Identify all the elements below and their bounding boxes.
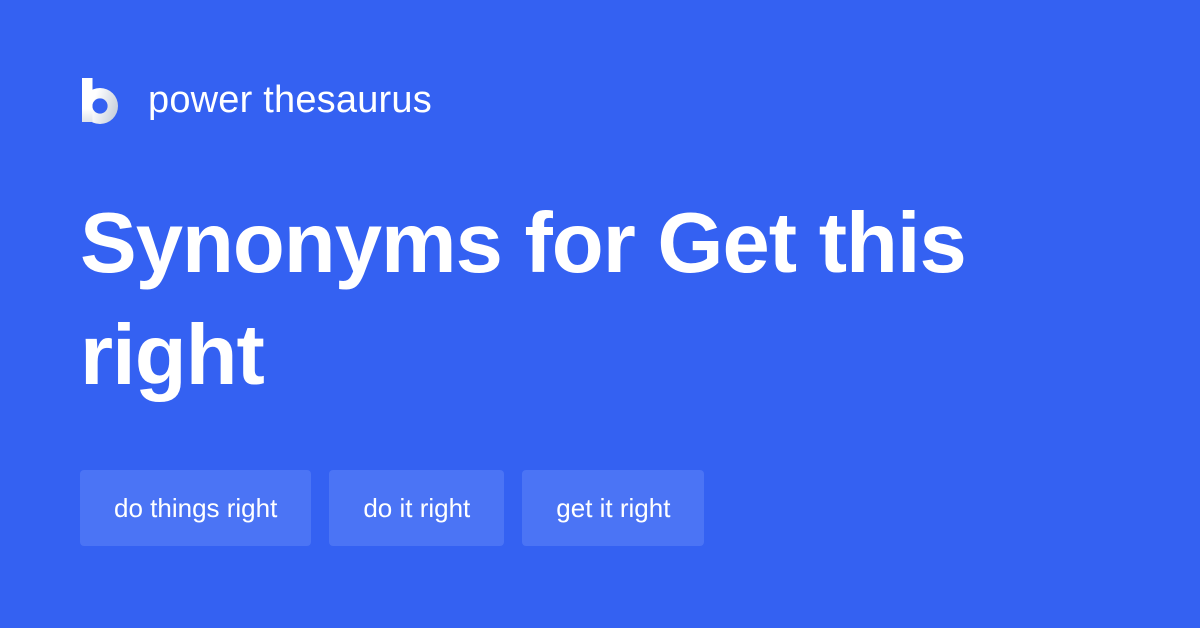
brand-header[interactable]: power thesaurus (80, 74, 432, 126)
synonym-chip[interactable]: do it right (329, 470, 504, 546)
synonym-chip-list: do things right do it right get it right (80, 470, 704, 546)
power-thesaurus-b-logo-icon (80, 76, 122, 124)
synonym-chip[interactable]: get it right (522, 470, 704, 546)
brand-name: power thesaurus (148, 81, 432, 119)
synonym-chip[interactable]: do things right (80, 470, 311, 546)
page-title: Synonyms for Get this right (80, 188, 980, 412)
page-root: power thesaurus Synonyms for Get this ri… (0, 0, 1200, 628)
